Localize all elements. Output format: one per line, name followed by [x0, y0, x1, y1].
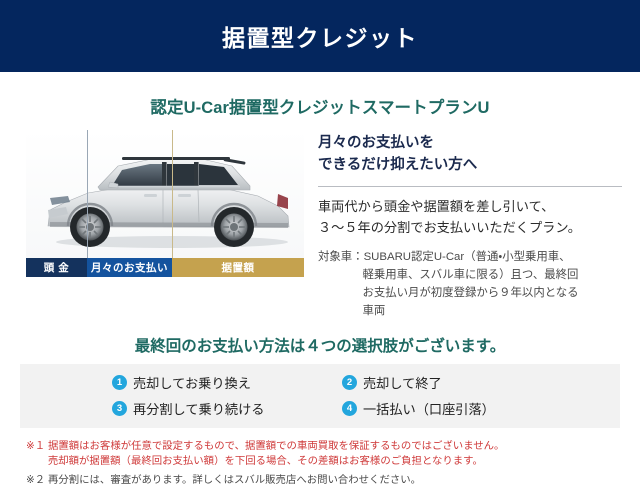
option-badge-4: 4 [342, 401, 357, 416]
option-item-3[interactable]: 3 再分割して乗り続ける [20, 399, 320, 418]
eligible-vehicle-line-1: 対象車：SUBARU認定U-Car（普通・小型乗用車、 [318, 251, 571, 263]
segment-divider-downpayment [87, 130, 88, 258]
option-badge-1: 1 [112, 375, 127, 390]
plan-body-copy: 車両代から頭金や据置額を差し引いて、 ３～５年の分割でお支払いいただくプラン。 [318, 196, 622, 239]
eligible-vehicle-line-3: お支払い月が初度登録から９年以内となる [318, 284, 622, 302]
option-label-1: 売却してお乗り換え [133, 373, 251, 392]
payment-breakdown-figure: 頭 金 月々のお支払い 据置額 [26, 130, 304, 277]
footnotes: ※１ 据置額はお客様が任意で設定するもので、据置額での車両買取を保証するものでは… [0, 428, 640, 488]
payment-segment-bar: 頭 金 月々のお支払い 据置額 [26, 258, 304, 277]
option-label-4: 一括払い（口座引落） [363, 399, 495, 418]
page-header: 据置型クレジット [0, 0, 640, 72]
plan-subtitle: 認定U-Car据置型クレジットスマートプランU [0, 94, 640, 118]
page-title: 据置型クレジット [222, 19, 418, 53]
option-item-1[interactable]: 1 売却してお乗り換え [20, 373, 320, 392]
final-payment-headline: 最終回のお支払い方法は４つの選択肢がございます。 [0, 334, 640, 356]
vehicle-photo [26, 130, 304, 258]
eligible-vehicle-line-2: 軽乗用車、スバル車に限る）且つ、最終回 [318, 266, 622, 284]
footnote-1-line-1: ※１ 据置額はお客様が任意で設定するもので、据置額での車両買取を保証するものでは… [26, 441, 504, 452]
footnote-2: ※２ 再分割には、審査があります。詳しくはスバル販売店へお問い合わせください。 [26, 473, 640, 488]
segment-balloon-payment: 据置額 [172, 258, 304, 277]
footnote-1-line-2: 売却額が据置額（最終回お支払い額）を下回る場合、その差額はお客様のご負担となりま… [26, 454, 640, 469]
lead-heading: 月々のお支払いを できるだけ抑えたい方へ [318, 132, 622, 177]
plan-body-line-1: 車両代から頭金や据置額を差し引いて、 [318, 196, 622, 217]
option-item-2[interactable]: 2 売却して終了 [320, 373, 620, 392]
plan-body-line-2: ３～５年の分割でお支払いいただくプラン。 [318, 217, 622, 238]
final-payment-options: 1 売却してお乗り換え 2 売却して終了 3 再分割して乗り続ける 4 一括払い… [20, 364, 620, 428]
option-badge-2: 2 [342, 375, 357, 390]
option-item-4[interactable]: 4 一括払い（口座引落） [320, 399, 620, 418]
segment-monthly-payment: 月々のお支払い [87, 258, 172, 277]
footnote-1: ※１ 据置額はお客様が任意で設定するもので、据置額での車両買取を保証するものでは… [26, 439, 640, 470]
eligible-vehicle-note: 対象車：SUBARU認定U-Car（普通・小型乗用車、 軽乗用車、スバル車に限る… [318, 248, 622, 320]
option-label-3: 再分割して乗り続ける [133, 399, 264, 418]
segment-down-payment: 頭 金 [26, 258, 87, 277]
eligible-vehicle-line-4: 車両 [318, 302, 622, 320]
plan-description: 月々のお支払いを できるだけ抑えたい方へ 車両代から頭金や据置額を差し引いて、 … [304, 130, 622, 320]
main-content: 頭 金 月々のお支払い 据置額 月々のお支払いを できるだけ抑えたい方へ 車両代… [0, 118, 640, 320]
lead-heading-line-2: できるだけ抑えたい方へ [318, 154, 622, 176]
car-illustration [26, 130, 304, 258]
option-label-2: 売却して終了 [363, 373, 442, 392]
option-badge-3: 3 [112, 401, 127, 416]
heading-divider [318, 186, 622, 187]
lead-heading-line-1: 月々のお支払いを [318, 132, 622, 154]
segment-divider-balloon [172, 130, 173, 258]
